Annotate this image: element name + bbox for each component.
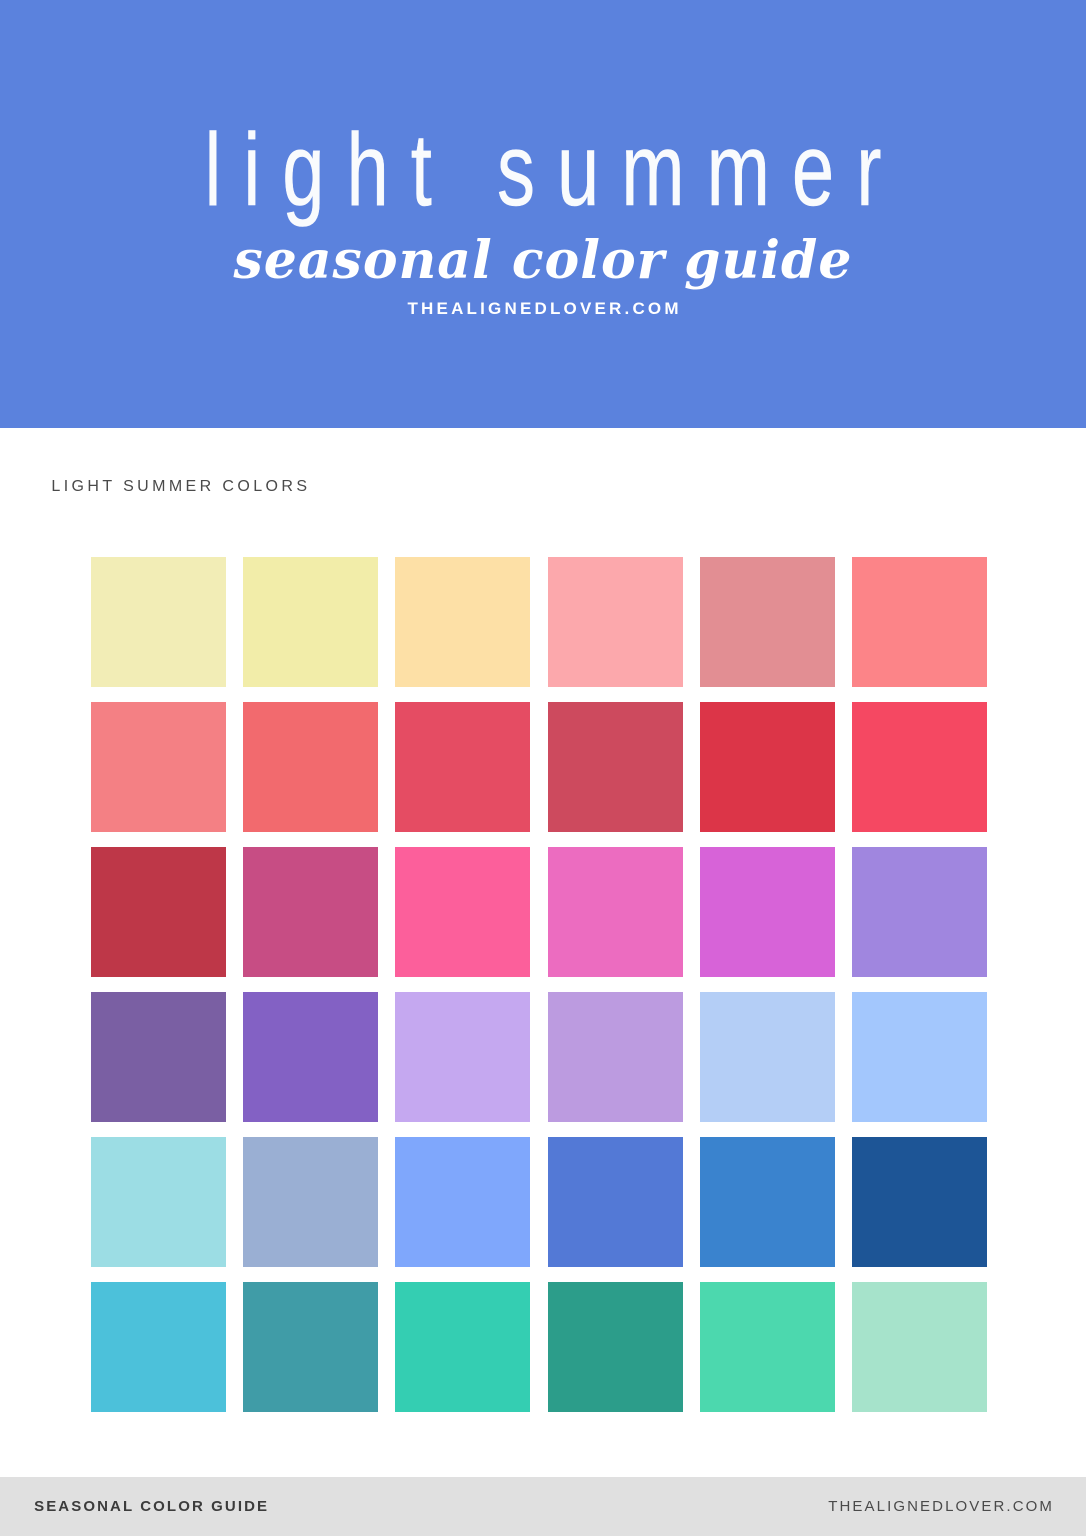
color-swatch-turquoise-blue xyxy=(91,1282,226,1412)
color-swatch-muted-grape-purple xyxy=(91,992,226,1122)
color-guide-page: light summer seasonal color guide THEALI… xyxy=(0,0,1086,1536)
color-swatch-salmon-pink xyxy=(91,702,226,832)
color-swatch-dusty-teal xyxy=(243,1282,378,1412)
color-swatch-bubblegum-pink xyxy=(548,847,683,977)
color-swatch-hot-pink xyxy=(395,847,530,977)
color-swatch-light-lilac xyxy=(395,992,530,1122)
color-swatch-light-coral-red xyxy=(243,702,378,832)
color-swatch-dusty-slate-blue xyxy=(243,1137,378,1267)
color-swatch-pale-butter-yellow xyxy=(91,557,226,687)
color-swatch-bright-turquoise-green xyxy=(395,1282,530,1412)
color-swatch-azure-blue xyxy=(700,1137,835,1267)
page-subtitle: seasonal color guide xyxy=(233,234,852,289)
color-swatch-soft-lavender xyxy=(548,992,683,1122)
header-website-url: THEALIGNEDLOVER.COM xyxy=(404,299,681,319)
color-swatch-light-lemon-yellow xyxy=(243,557,378,687)
page-title: light summer xyxy=(183,120,904,223)
color-swatch-deep-brick-red xyxy=(91,847,226,977)
color-swatch-medium-purple xyxy=(243,992,378,1122)
color-swatch-spring-mint-green xyxy=(700,1282,835,1412)
color-swatch-powder-blue xyxy=(700,992,835,1122)
header-banner: light summer seasonal color guide THEALI… xyxy=(0,0,1086,428)
footer-title: SEASONAL COLOR GUIDE xyxy=(32,1498,269,1515)
color-swatch-crimson-red xyxy=(700,702,835,832)
color-swatch-dusty-rose xyxy=(700,557,835,687)
color-swatch-muted-raspberry xyxy=(548,702,683,832)
color-swatch-berry-magenta xyxy=(243,847,378,977)
color-swatch-royal-blue xyxy=(548,1137,683,1267)
color-swatch-deep-navy-blue xyxy=(852,1137,987,1267)
color-swatch-pale-mint-green xyxy=(852,1282,987,1412)
footer-bar: SEASONAL COLOR GUIDE THEALIGNEDLOVER.COM xyxy=(0,1477,1086,1536)
color-swatch-orchid-violet xyxy=(700,847,835,977)
color-swatch-grid xyxy=(91,557,987,1412)
footer-website-url: THEALIGNEDLOVER.COM xyxy=(826,1498,1054,1515)
color-swatch-soft-peach-apricot xyxy=(395,557,530,687)
color-swatch-cornflower-blue xyxy=(395,1137,530,1267)
color-swatch-pale-aqua xyxy=(91,1137,226,1267)
color-swatch-bright-rose-red xyxy=(852,702,987,832)
color-swatch-light-sky-blue xyxy=(852,992,987,1122)
color-swatch-coral-pink xyxy=(852,557,987,687)
section-label: LIGHT SUMMER COLORS xyxy=(48,478,310,496)
color-swatch-light-blush-pink xyxy=(548,557,683,687)
color-swatch-watermelon-red xyxy=(395,702,530,832)
color-swatch-deep-jade-green xyxy=(548,1282,683,1412)
color-swatch-light-periwinkle-purple xyxy=(852,847,987,977)
